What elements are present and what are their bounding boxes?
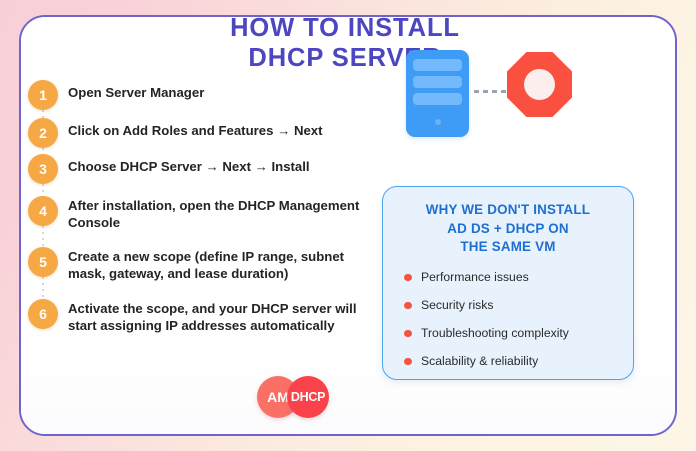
step-badge-wrap: 6 <box>18 299 68 329</box>
list-item: 6 Activate the scope, and your DHCP serv… <box>18 299 386 355</box>
step-badge-wrap: 3 <box>18 154 68 184</box>
step-connector-icon <box>42 226 44 247</box>
list-item: Performance issues <box>404 270 633 285</box>
step-connector-icon <box>42 184 44 196</box>
list-item: 2 Click on Add Roles and Features → Next <box>18 118 386 154</box>
step-connector-icon <box>42 110 44 118</box>
step-number-badge: 1 <box>28 80 58 110</box>
step-number-badge: 6 <box>28 299 58 329</box>
step-number-badge: 4 <box>28 196 58 226</box>
infographic-poster: HOW TO INSTALL DHCP SERVER 1 Open Server… <box>0 0 696 451</box>
server-slot-bar-1 <box>413 59 462 71</box>
dashed-connector-icon <box>474 90 506 93</box>
step-text: Activate the scope, and your DHCP server… <box>68 299 386 334</box>
step-badge-wrap: 5 <box>18 247 68 277</box>
info-heading-line-3: THE SAME VM <box>393 238 623 257</box>
step-number-badge: 2 <box>28 118 58 148</box>
list-item: 1 Open Server Manager <box>18 80 386 118</box>
info-heading-line-1: WHY WE DON'T INSTALL <box>393 201 623 220</box>
logo-badge-group: AM DHCP <box>239 374 359 422</box>
info-heading-line-2: AD DS + DHCP ON <box>393 220 623 239</box>
list-item: 4 After installation, open the DHCP Mana… <box>18 196 386 247</box>
step-text: Open Server Manager <box>68 80 208 102</box>
step-text: After installation, open the DHCP Manage… <box>68 196 386 231</box>
list-item: Scalability & reliability <box>404 354 633 369</box>
info-panel-heading: WHY WE DON'T INSTALL AD DS + DHCP ON THE… <box>383 187 633 257</box>
step-text: Click on Add Roles and Features → Next <box>68 118 327 140</box>
step-badge-wrap: 1 <box>18 80 68 110</box>
step-number-badge: 3 <box>28 154 58 184</box>
list-item: Security risks <box>404 298 633 313</box>
badge-dhcp: DHCP <box>287 376 329 418</box>
list-item: 5 Create a new scope (define IP range, s… <box>18 247 386 299</box>
step-badge-wrap: 4 <box>18 196 68 226</box>
info-panel-bullet-list: Performance issues Security risks Troubl… <box>383 270 633 369</box>
server-slot-bar-2 <box>413 76 462 88</box>
server-illustration <box>388 42 608 147</box>
server-led-icon <box>435 119 441 125</box>
list-item: 3 Choose DHCP Server → Next → Install <box>18 154 386 196</box>
step-connector-icon <box>42 277 44 299</box>
info-panel: WHY WE DON'T INSTALL AD DS + DHCP ON THE… <box>382 186 634 380</box>
steps-list: 1 Open Server Manager 2 Click on Add Rol… <box>18 80 386 355</box>
server-slot-bar-3 <box>413 93 462 105</box>
title-line-1: HOW TO INSTALL <box>150 13 540 43</box>
step-badge-wrap: 2 <box>18 118 68 148</box>
step-text: Create a new scope (define IP range, sub… <box>68 247 386 282</box>
step-text: Choose DHCP Server → Next → Install <box>68 154 314 176</box>
step-number-badge: 5 <box>28 247 58 277</box>
list-item: Troubleshooting complexity <box>404 326 633 341</box>
server-icon <box>406 50 469 137</box>
red-ring-center <box>524 69 555 100</box>
